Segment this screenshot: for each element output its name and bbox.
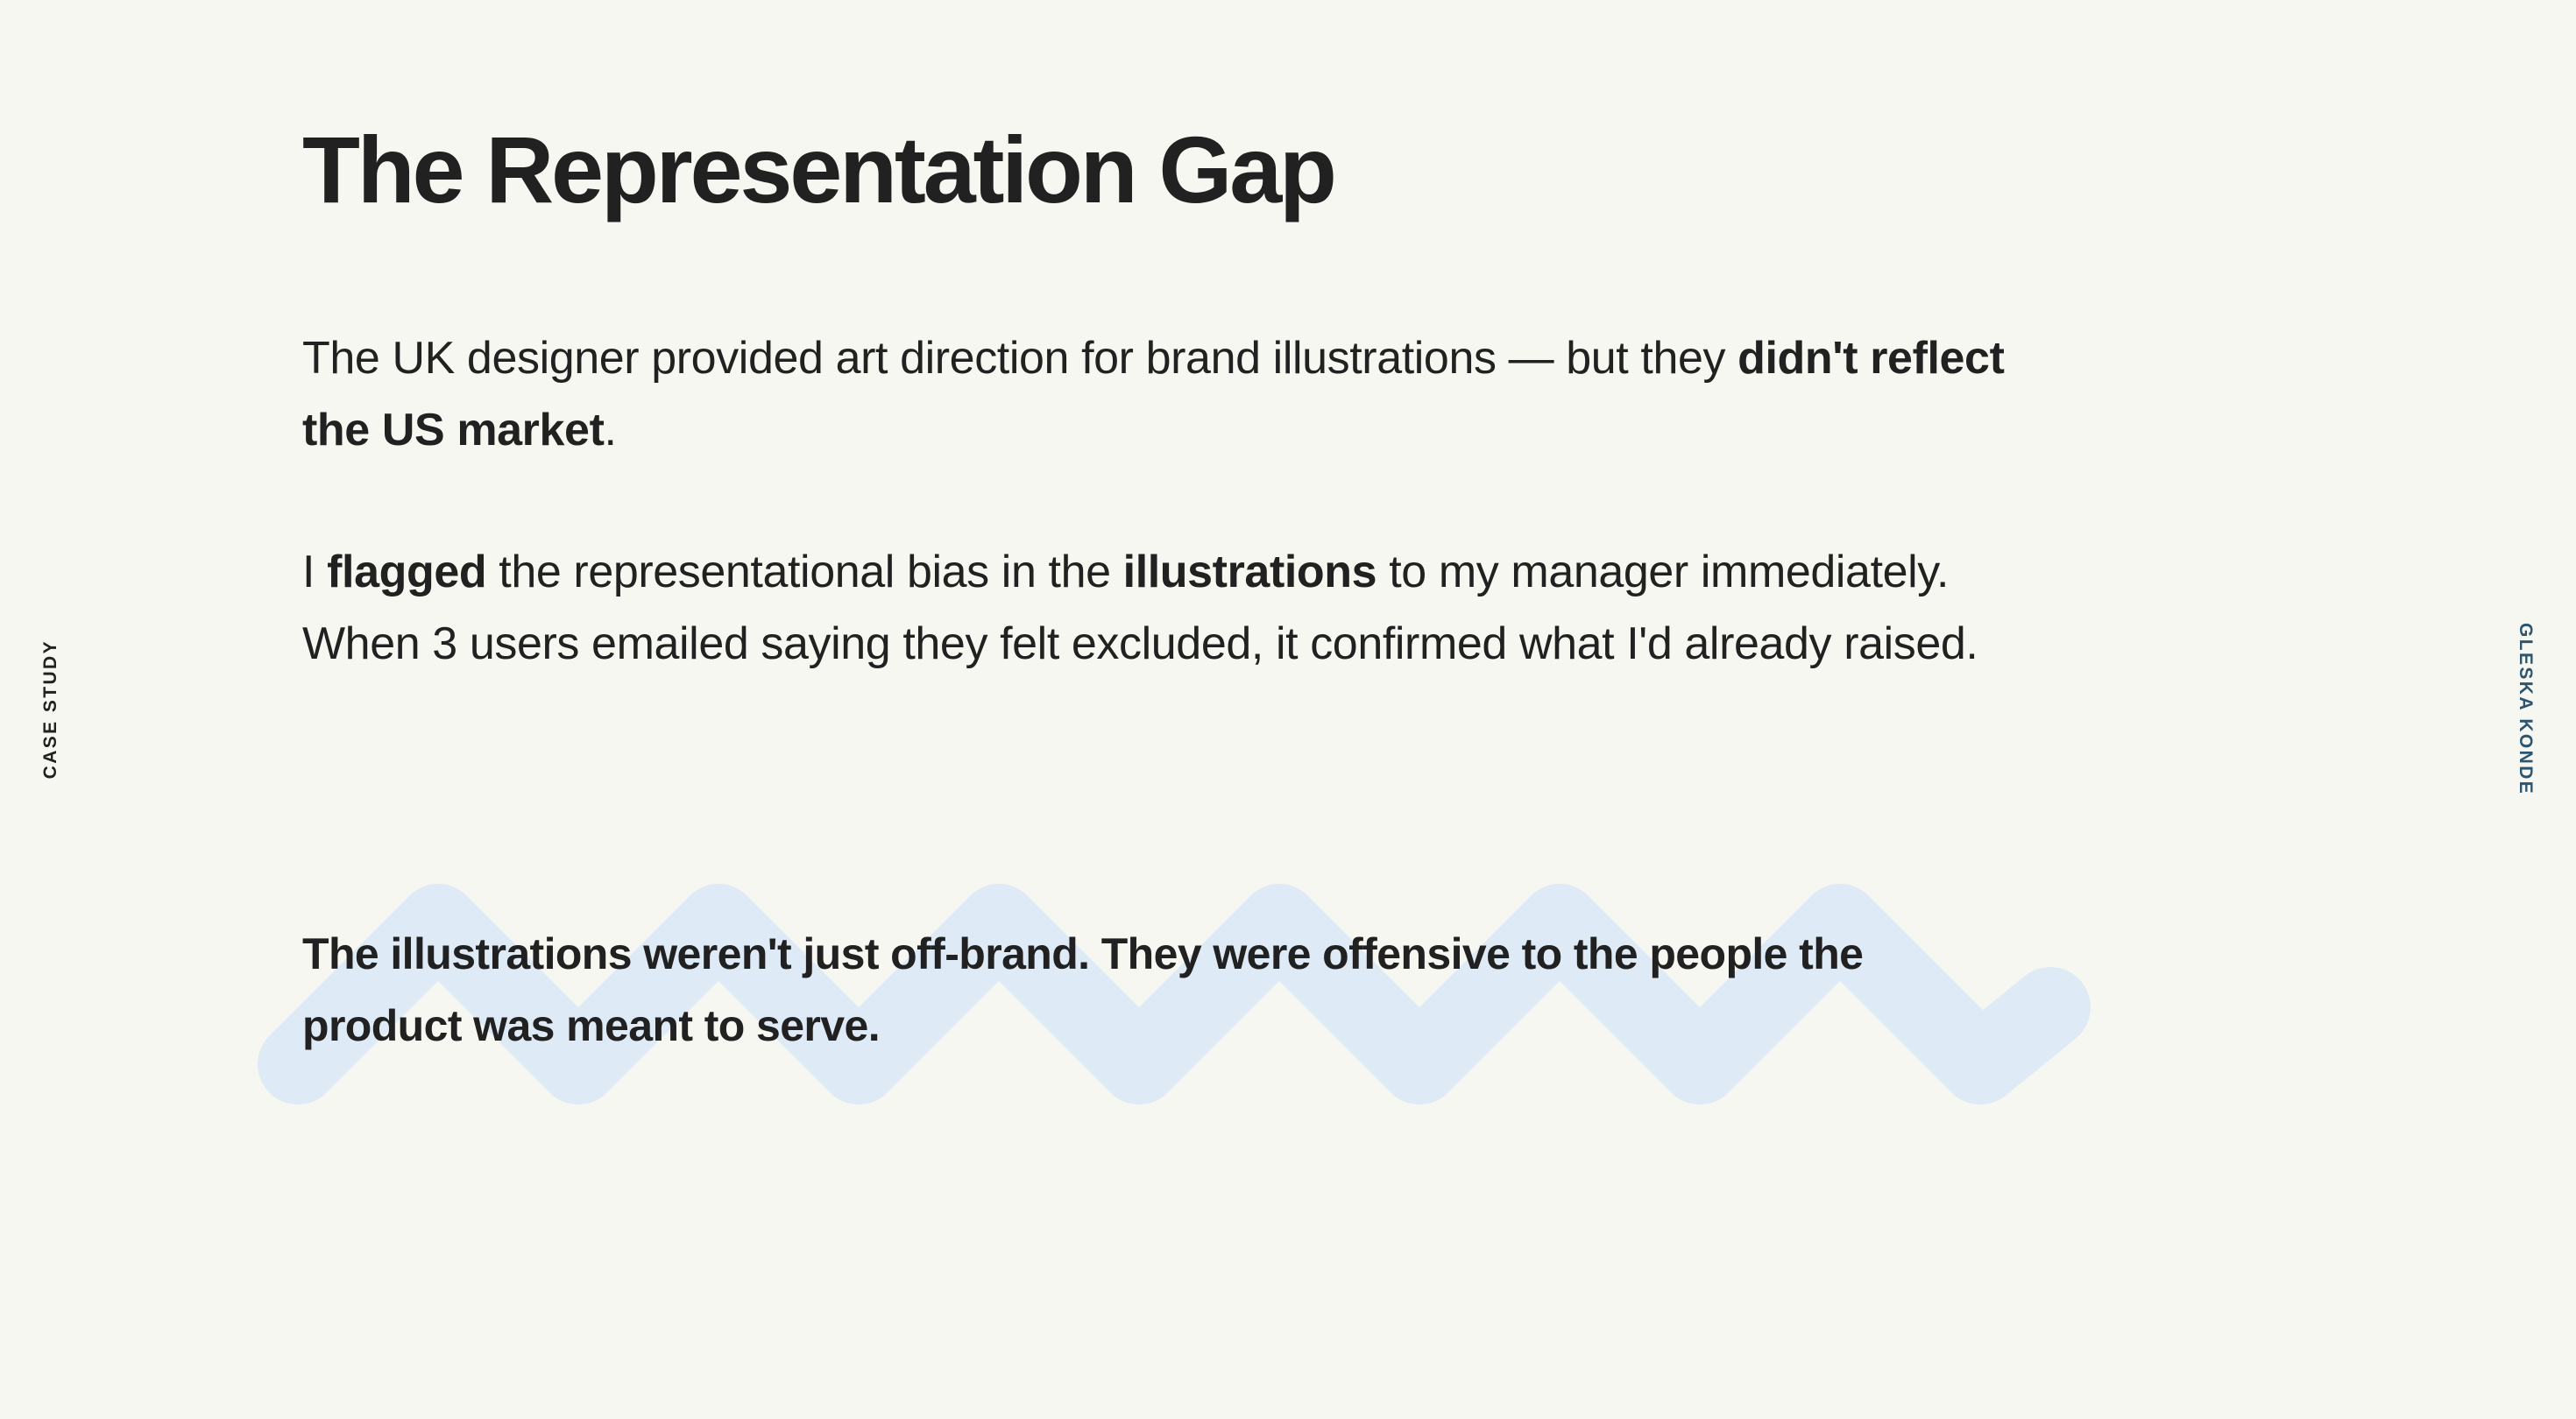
paragraph-1-text-part-1: The UK designer provided art direction f… — [302, 333, 1737, 384]
paragraph-2-emphasis-1: flagged — [327, 547, 486, 597]
case-study-label: CASE STUDY — [40, 639, 61, 779]
content-column: The Representation Gap The UK designer p… — [302, 0, 2063, 1419]
callout-block: The illustrations weren't just off-brand… — [245, 876, 2103, 1112]
paragraph-2-text-part-2: the representational bias in the — [486, 547, 1122, 597]
slide-canvas: CASE STUDY GLESKA KONDE The Representati… — [0, 0, 2576, 1419]
paragraph-2-emphasis-2: illustrations — [1123, 547, 1377, 597]
callout-text: The illustrations weren't just off-brand… — [302, 918, 2020, 1062]
brand-name-label: GLESKA KONDE — [2515, 623, 2536, 795]
paragraph-2-text-part-1: I — [302, 547, 327, 597]
paragraph-1-text-part-2: . — [604, 405, 616, 455]
body-paragraph-2: I flagged the representational bias in t… — [302, 536, 2046, 680]
body-paragraph-1: The UK designer provided art direction f… — [302, 322, 2046, 466]
page-title: The Representation Gap — [302, 123, 1334, 217]
left-rail: CASE STUDY — [0, 0, 102, 1419]
right-rail: GLESKA KONDE — [2474, 0, 2576, 1419]
